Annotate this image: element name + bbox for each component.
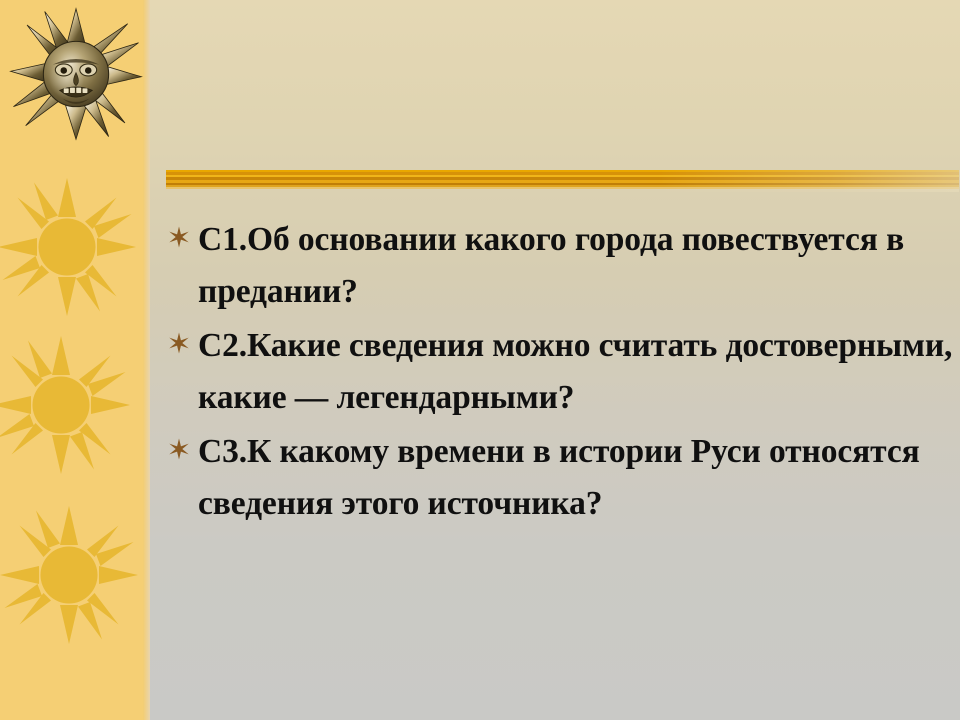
six-pointed-star-bullet-icon [168, 426, 198, 460]
slide-body-content: С1.Об основании какого города повествует… [168, 214, 958, 532]
header-striped-rule [166, 170, 959, 192]
six-pointed-star-bullet-icon [168, 320, 198, 354]
list-item-text: С2.Какие сведения можно считать достовер… [198, 320, 958, 424]
presentation-slide: С1.Об основании какого города повествует… [0, 0, 960, 720]
list-item-text: С1.Об основании какого города повествует… [198, 214, 958, 318]
sun-burst-icon [0, 330, 136, 480]
list-item: С1.Об основании какого города повествует… [168, 214, 958, 318]
list-item: С3.К какому времени в истории Руси относ… [168, 426, 958, 530]
sidebar-edge-divider [143, 0, 150, 720]
six-pointed-star-bullet-icon [168, 214, 198, 248]
ornate-sun-face-icon [8, 6, 144, 142]
sun-burst-icon [0, 500, 144, 650]
list-item: С2.Какие сведения можно считать достовер… [168, 320, 958, 424]
sun-burst-icon [0, 172, 142, 322]
list-item-text: С3.К какому времени в истории Руси относ… [198, 426, 958, 530]
